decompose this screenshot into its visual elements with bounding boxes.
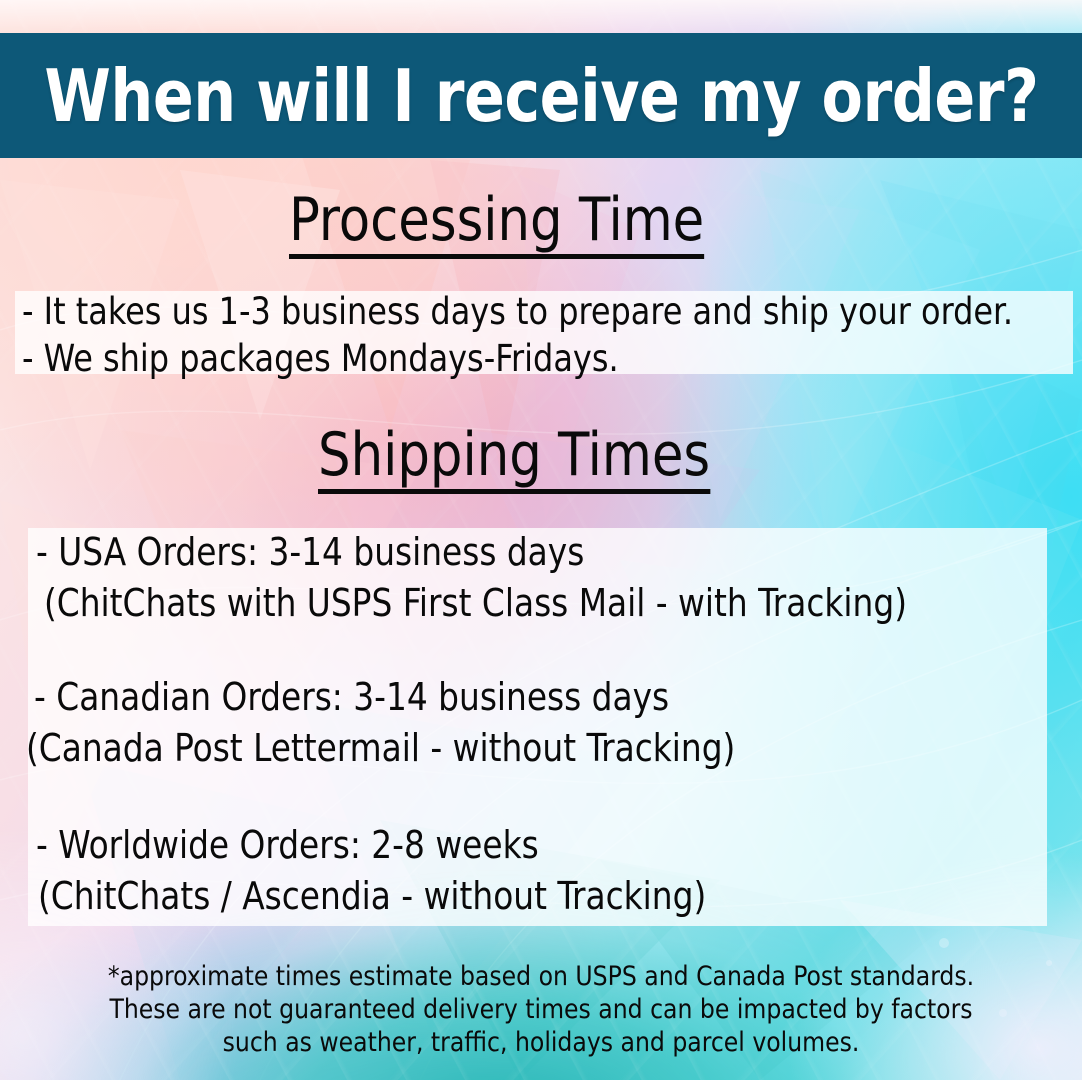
shipping-worldwide-line-1: - Worldwide Orders: 2-8 weeks <box>36 826 539 864</box>
footer-disclaimer-line-2: These are not guaranteed delivery times … <box>16 993 1066 1026</box>
shipping-worldwide-line-2: (ChitChats / Ascendia - without Tracking… <box>38 877 706 915</box>
shipping-canada-line-2: (Canada Post Lettermail - without Tracki… <box>26 729 735 767</box>
section-heading-processing-time: Processing Time <box>289 190 704 259</box>
shipping-usa-line-1: - USA Orders: 3-14 business days <box>36 533 584 571</box>
header-banner: When will I receive my order? <box>0 33 1082 158</box>
shipping-canada-line-1: - Canadian Orders: 3-14 business days <box>34 678 669 716</box>
processing-time-line-2: - We ship packages Mondays-Fridays. <box>22 340 619 377</box>
section-heading-processing-time-label: Processing Time <box>289 190 704 259</box>
section-heading-shipping-times: Shipping Times <box>318 425 710 494</box>
footer-disclaimer-line-3: such as weather, traffic, holidays and p… <box>16 1026 1066 1059</box>
infographic-content: When will I receive my order? Processing… <box>0 0 1082 1080</box>
footer-disclaimer-line-1: *approximate times estimate based on USP… <box>16 960 1066 993</box>
section-heading-shipping-times-label: Shipping Times <box>318 425 710 494</box>
processing-time-line-1: - It takes us 1-3 business days to prepa… <box>22 293 1013 330</box>
shipping-usa-line-2: (ChitChats with USPS First Class Mail - … <box>44 584 907 622</box>
page-title: When will I receive my order? <box>44 60 1038 132</box>
footer-disclaimer: *approximate times estimate based on USP… <box>0 960 1082 1059</box>
